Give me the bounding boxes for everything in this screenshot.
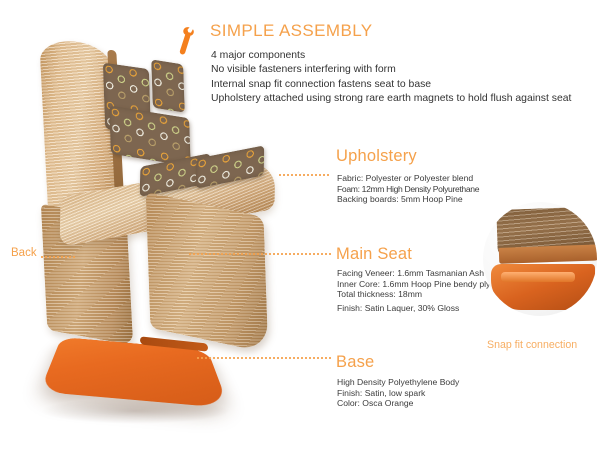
chair-front-support-panel xyxy=(146,192,269,353)
detail-orange-snap xyxy=(491,264,595,310)
base-line-3: Color: Osca Orange xyxy=(337,398,459,409)
detail-snap-lip xyxy=(501,272,575,282)
leader-line-main-seat xyxy=(188,253,331,255)
callout-heading-base: Base xyxy=(336,353,374,372)
main-seat-line-2: Inner Core: 1.6mm Hoop Pine bendy ply xyxy=(337,279,490,290)
main-seat-line-3: Total thickness: 18mm xyxy=(337,289,490,300)
callout-heading-upholstery: Upholstery xyxy=(336,147,417,166)
assembly-bullet-3: Internal snap fit connection fastens sea… xyxy=(211,78,571,92)
leader-line-upholstery xyxy=(278,174,330,176)
backrest-cushion-right xyxy=(151,59,185,112)
base-line-2: Finish: Satin, low spark xyxy=(337,388,459,399)
callout-label-back: Back xyxy=(11,247,37,259)
snap-fit-detail-inset xyxy=(483,202,597,316)
leader-line-back xyxy=(40,256,76,258)
upholstery-line-2: Foam: 12mm High Density Polyurethane xyxy=(337,184,479,195)
callout-heading-main-seat: Main Seat xyxy=(336,245,412,264)
base-line-1: High Density Polyethylene Body xyxy=(337,377,459,388)
main-seat-finish-line: Finish: Satin Laquer, 30% Gloss xyxy=(337,303,459,314)
assembly-bullet-1: 4 major components xyxy=(211,49,571,63)
leader-line-base xyxy=(196,357,331,359)
poster-canvas: SIMPLE ASSEMBLY 4 major components No vi… xyxy=(0,0,600,467)
detail-inset-caption: Snap fit connection xyxy=(487,339,577,351)
upholstery-line-3: Backing boards: 5mm Hoop Pine xyxy=(337,194,479,205)
assembly-bullet-2: No visible fasteners interfering with fo… xyxy=(211,63,571,77)
assembly-bullet-4: Upholstery attached using strong rare ea… xyxy=(211,92,571,106)
wrench-icon xyxy=(176,26,196,56)
upholstery-line-1: Fabric: Polyester or Polyester blend xyxy=(337,173,479,184)
main-seat-line-1: Facing Veneer: 1.6mm Tasmanian Ash xyxy=(337,268,490,279)
page-title: SIMPLE ASSEMBLY xyxy=(210,21,373,41)
detail-wood-edge xyxy=(499,244,597,264)
